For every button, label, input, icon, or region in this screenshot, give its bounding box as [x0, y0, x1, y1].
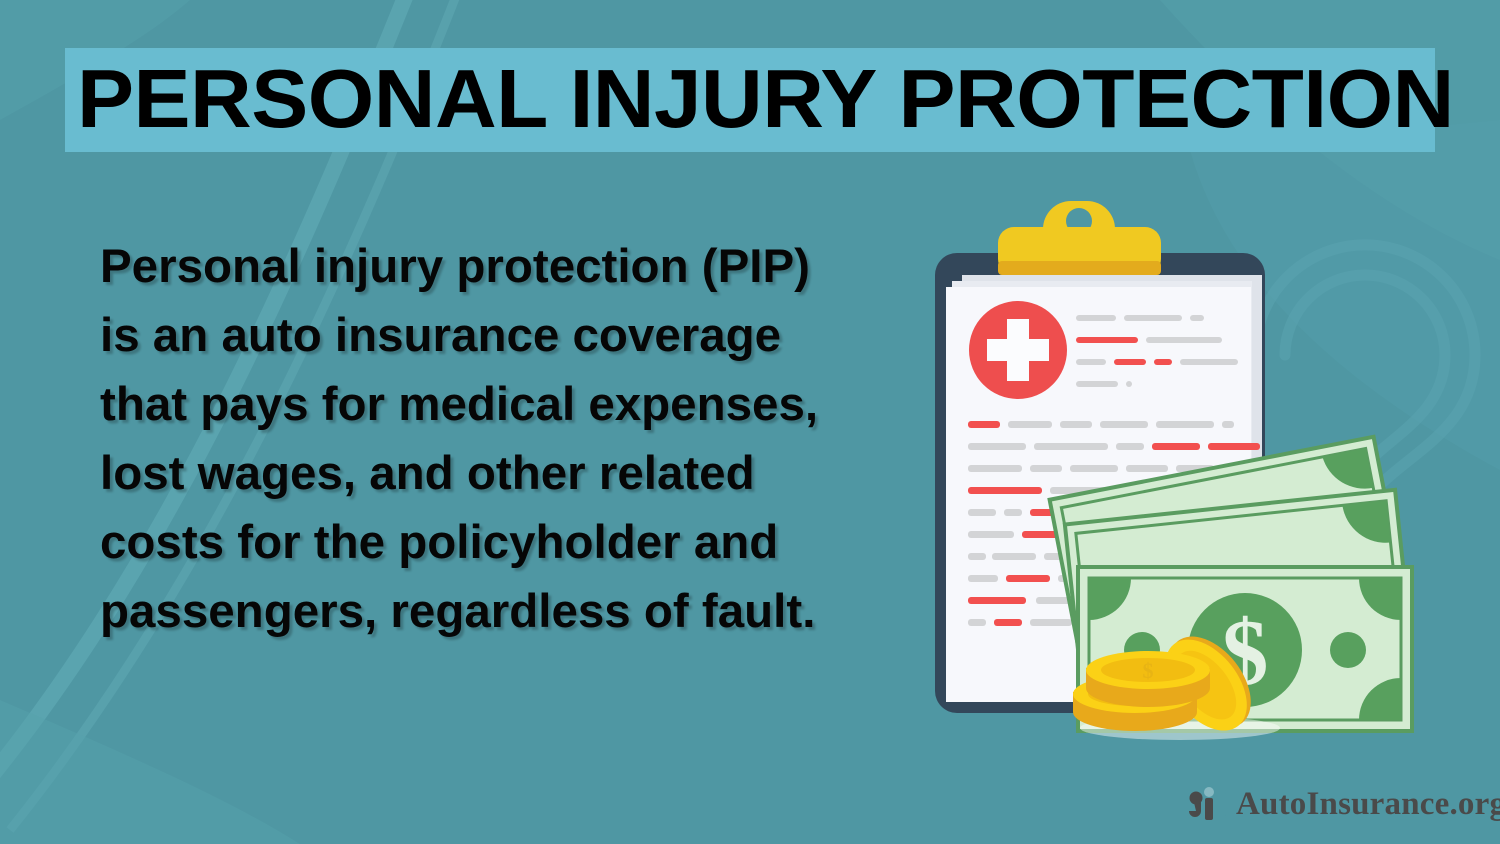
clip-shadow: [998, 261, 1161, 275]
site-logo[interactable]: AutoInsurance.org: [1188, 782, 1500, 826]
ai-monogram-icon: [1188, 785, 1226, 823]
illustration-medical-claim-clipboard-with-cash: $ $: [880, 195, 1500, 755]
clipboard-clip: [998, 201, 1161, 275]
page-title: PERSONAL INJURY PROTECTION: [77, 47, 1478, 151]
bill-dot-right: [1330, 632, 1366, 668]
coin-dollar-symbol: $: [1143, 658, 1154, 683]
medical-cross-icon: [969, 301, 1067, 399]
coin-stack: $: [1073, 651, 1210, 731]
body-paragraph: Personal injury protection (PIP) is an a…: [100, 232, 820, 646]
cross-horizontal: [987, 339, 1049, 361]
logo-text: AutoInsurance.org: [1236, 788, 1500, 821]
